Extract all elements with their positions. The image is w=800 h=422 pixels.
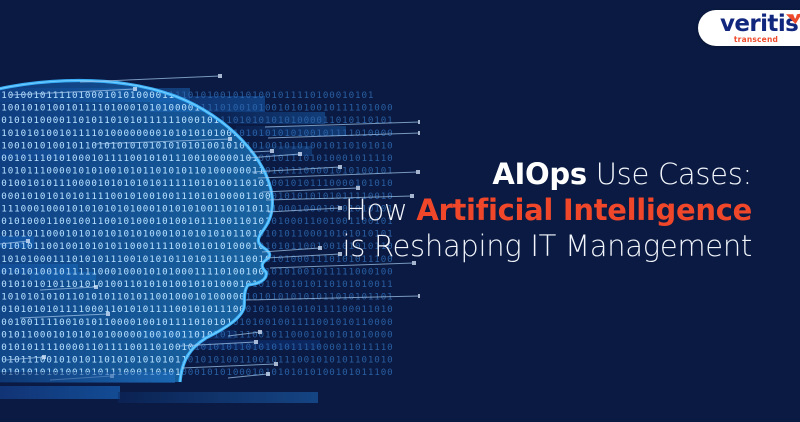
headline-line-3: is Reshaping IT Management — [282, 228, 752, 264]
connector-dot — [254, 340, 258, 344]
headline-line-1: AIOps Use Cases: — [282, 156, 752, 192]
veritis-logo-pill[interactable]: veritis transcend — [698, 10, 800, 46]
connector-dot — [418, 131, 420, 135]
connector-dot — [418, 294, 420, 298]
connector-dot — [26, 239, 30, 243]
headline-line-1-rest: Use Cases: — [587, 157, 752, 191]
connector-dot — [266, 372, 270, 376]
connector-dot — [270, 149, 274, 153]
logo-inner: veritis transcend — [720, 13, 800, 45]
headline-line-2-prefix: How — [345, 193, 416, 227]
connector-dot — [218, 74, 222, 78]
connector-dot — [258, 330, 262, 334]
connector-dot — [274, 362, 278, 366]
connector-dot — [418, 120, 420, 124]
headline-aiops-bold: AIOps — [492, 157, 586, 191]
connector-dot — [94, 285, 98, 289]
headline-line-2: How Artificial Intelligence — [282, 192, 752, 228]
connector-dot — [106, 312, 110, 316]
orange-check-swoosh-icon — [785, 13, 800, 25]
headline-block: AIOps Use Cases: How Artificial Intellig… — [282, 156, 752, 264]
connector-dot — [228, 137, 232, 141]
banner-root: 0101010010111101000101010000111101010010… — [0, 0, 800, 422]
connector-dot — [133, 87, 137, 91]
headline-ai-highlight: Artificial Intelligence — [416, 193, 752, 227]
connector-dot — [42, 355, 46, 359]
